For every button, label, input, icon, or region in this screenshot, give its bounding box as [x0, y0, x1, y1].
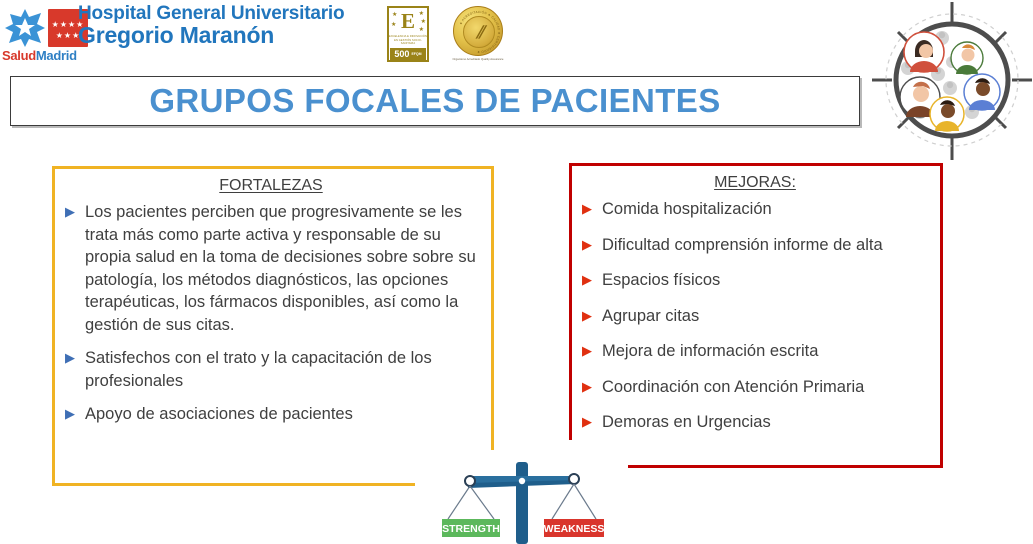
improvements-item-text: Demoras en Urgencias: [602, 411, 771, 434]
salud-word-blue: Madrid: [36, 48, 77, 63]
improvements-item-text: Espacios físicos: [602, 269, 720, 292]
list-item: ▶ Demoras en Urgencias: [582, 411, 928, 434]
scale-right-label: WEAKNESS: [544, 523, 605, 535]
strengths-item-text: Los pacientes perciben que progresivamen…: [85, 201, 477, 336]
list-item: ▶ Agrupar citas: [582, 305, 928, 328]
excellence-letter: E: [401, 11, 415, 31]
focus-group-target-icon: [872, 2, 1032, 160]
excellence-score-number: 500: [394, 49, 409, 59]
excellence-score-suffix: EFQM: [411, 52, 421, 56]
medal-disc: ★ ACREDITACIÓN ★ CALIDAD ★ CERTIFICADO ★…: [453, 6, 503, 56]
triangle-bullet-icon: ▶: [582, 234, 592, 256]
strengths-item-text: Satisfechos con el trato y la capacitaci…: [85, 347, 477, 392]
star-icon: ★: [391, 21, 396, 28]
list-item: ▶ Dificultad comprensión informe de alta: [582, 234, 928, 257]
hospital-name-line2: Gregorio Maranón: [78, 24, 378, 48]
list-item: ▶ Satisfechos con el trato y la capacita…: [65, 347, 477, 392]
salud-madrid-wordmark: SaludMadrid: [2, 48, 92, 63]
strengths-item-text: Apoyo de asociaciones de pacientes: [85, 403, 353, 426]
star-icon: ★: [421, 18, 426, 25]
scale-left-label: STRENGTH: [442, 523, 500, 535]
improvements-item-text: Comida hospitalización: [602, 198, 772, 221]
improvements-item-text: Agrupar citas: [602, 305, 699, 328]
triangle-bullet-icon: ▶: [582, 269, 592, 291]
star-icon: ★: [419, 10, 424, 17]
list-item: ▶ Coordinación con Atención Primaria: [582, 376, 928, 399]
hospital-name: Hospital General Universitario Gregorio …: [78, 4, 378, 48]
list-item: ▶ Comida hospitalización: [582, 198, 928, 221]
page-header: ★★★★ ★★★ SaludMadrid Hospital General Un…: [0, 0, 1033, 72]
improvements-heading: MEJORAS:: [582, 174, 928, 192]
salud-madrid-logo: ★★★★ ★★★ SaludMadrid: [2, 6, 74, 62]
improvements-item-text: Coordinación con Atención Primaria: [602, 376, 864, 399]
triangle-bullet-icon: ▶: [582, 198, 592, 220]
triangle-bullet-icon: ▶: [65, 347, 75, 369]
slide-title-banner: GRUPOS FOCALES DE PACIENTES: [10, 76, 860, 126]
medal-caption: Organismo Acreditado Quality Assurance: [447, 58, 509, 62]
triangle-bullet-icon: ▶: [582, 411, 592, 433]
strengths-panel: FORTALEZAS ▶ Los pacientes perciben que …: [52, 166, 494, 486]
page-title: GRUPOS FOCALES DE PACIENTES: [149, 82, 720, 120]
list-item: ▶ Mejora de información escrita: [582, 340, 928, 363]
improvements-panel: MEJORAS: ▶ Comida hospitalización ▶ Difi…: [569, 163, 943, 468]
medal-monogram: ⫽: [468, 23, 492, 43]
improvements-list: ▶ Comida hospitalización ▶ Dificultad co…: [582, 198, 928, 434]
triangle-bullet-icon: ▶: [582, 305, 592, 327]
medal-inner-disc: ⫽: [463, 16, 495, 48]
strengths-heading: FORTALEZAS: [65, 177, 477, 195]
excellence-badge-emblem: ★ ★ ★ ★ ★ E: [389, 8, 427, 34]
salud-word-red: Salud: [2, 48, 36, 63]
improvements-item-text: Dificultad comprensión informe de alta: [602, 234, 883, 257]
excellence-badge-caption: EXCELENCIA E INNOVACIÓN EN GESTIÓN SOCIO…: [389, 35, 427, 46]
gold-quality-medal-badge: ★ ACREDITACIÓN ★ CALIDAD ★ CERTIFICADO ★…: [447, 6, 509, 64]
triangle-bullet-icon: ▶: [582, 340, 592, 362]
star-icon: ★: [392, 11, 397, 18]
triangle-bullet-icon: ▶: [65, 403, 75, 425]
strengths-list: ▶ Los pacientes perciben que progresivam…: [65, 201, 477, 426]
excellence-badge-score: 500 EFQM: [390, 48, 426, 60]
star-icon: ★: [419, 26, 424, 33]
improvements-item-text: Mejora de información escrita: [602, 340, 818, 363]
hospital-name-line1: Hospital General Universitario: [78, 4, 378, 24]
balance-scale-graphic: STRENGTH WEAKNESS: [424, 462, 620, 544]
excellence-award-badge: ★ ★ ★ ★ ★ E EXCELENCIA E INNOVACIÓN EN G…: [387, 6, 429, 62]
triangle-bullet-icon: ▶: [65, 201, 75, 223]
triangle-bullet-icon: ▶: [582, 376, 592, 398]
list-item: ▶ Los pacientes perciben que progresivam…: [65, 201, 477, 336]
list-item: ▶ Apoyo de asociaciones de pacientes: [65, 403, 477, 426]
list-item: ▶ Espacios físicos: [582, 269, 928, 292]
salud-star-icon: [4, 8, 46, 48]
